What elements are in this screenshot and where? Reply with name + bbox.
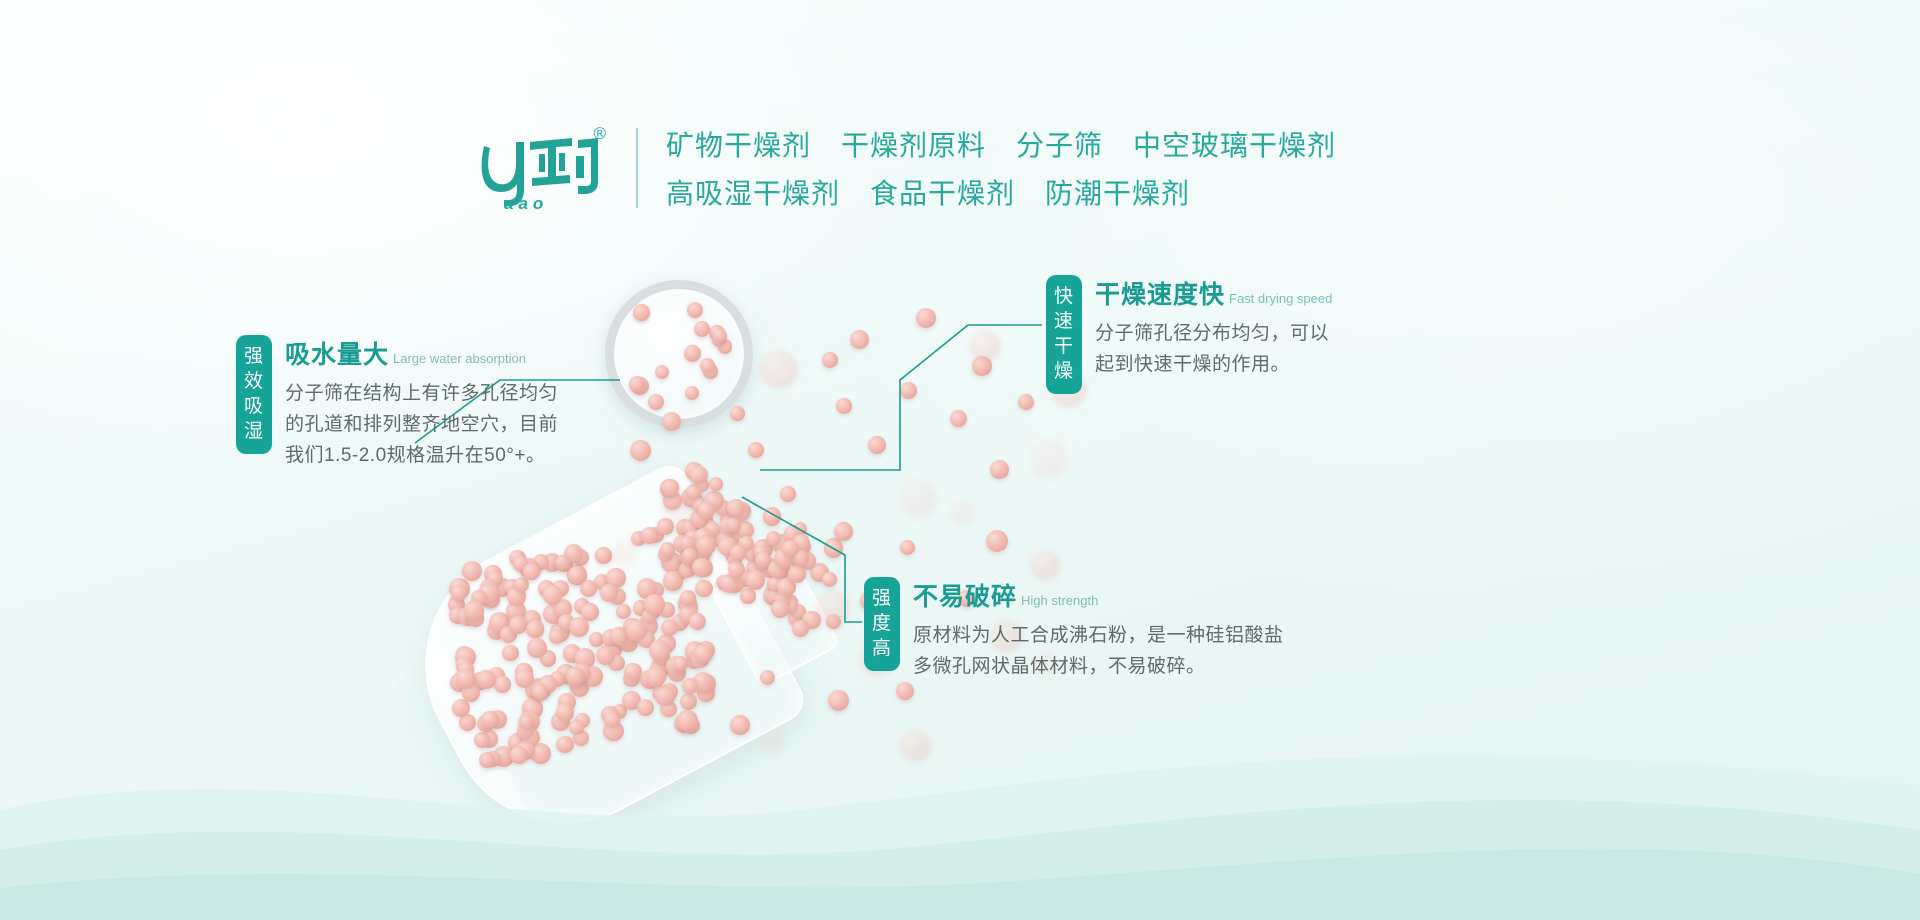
banner-stage: ® aao 矿物干燥剂干燥剂原料分子筛中空玻璃干燥剂高吸湿干燥剂食品干燥剂防潮干…	[0, 0, 1920, 920]
bead	[816, 590, 850, 624]
callout-text-strength: 原材料为人工合成沸石粉，是一种硅铝酸盐多微孔网状晶体材料，不易破碎。	[913, 620, 1284, 682]
bead	[685, 386, 699, 400]
bead	[713, 329, 728, 344]
text-line: 原材料为人工合成沸石粉，是一种硅铝酸盐	[913, 620, 1284, 651]
bead	[900, 480, 937, 517]
bead	[527, 638, 547, 658]
registered-trademark-icon: ®	[593, 124, 606, 144]
callout-text-speed: 分子筛孔径分布均匀，可以起到快速干燥的作用。	[1095, 318, 1332, 380]
nav-item-食品干燥剂[interactable]: 食品干燥剂	[870, 172, 1015, 212]
bead	[788, 565, 806, 583]
bead	[694, 644, 713, 663]
bead	[950, 500, 973, 523]
bead	[684, 345, 701, 362]
bead	[600, 584, 618, 602]
bead	[700, 358, 715, 373]
bead	[526, 621, 544, 639]
bead	[970, 330, 1001, 361]
bead	[900, 382, 917, 399]
bead	[644, 594, 665, 615]
bead	[624, 663, 641, 680]
bead	[509, 616, 527, 634]
bead	[730, 406, 745, 421]
bead	[633, 304, 650, 321]
text-line: 分子筛在结构上有许多孔径均匀	[285, 378, 558, 409]
callout-speed: 快速干燥 干燥速度快 Fast drying speed 分子筛孔径分布均匀，可…	[1046, 275, 1332, 394]
bead	[730, 545, 746, 561]
bead	[515, 669, 535, 689]
bead	[568, 566, 586, 584]
bead	[950, 410, 967, 427]
bead	[748, 442, 764, 458]
text-line: 的孔道和排列整齐地空穴，目前	[285, 409, 558, 440]
callout-title-cn-strength: 不易破碎	[913, 577, 1017, 613]
nav-item-干燥剂原料[interactable]: 干燥剂原料	[841, 124, 986, 164]
bead	[834, 522, 853, 541]
callout-strength: 强度高 不易破碎 High strength 原材料为人工合成沸石粉，是一种硅铝…	[864, 577, 1284, 682]
bead	[1030, 550, 1060, 580]
header-divider	[636, 128, 638, 208]
bead	[502, 645, 518, 661]
bead	[555, 555, 570, 570]
bead	[782, 540, 799, 557]
bead	[760, 350, 798, 388]
bead	[868, 436, 886, 454]
nav-item-矿物干燥剂[interactable]: 矿物干燥剂	[666, 124, 811, 164]
bead	[1018, 394, 1034, 410]
nav-item-分子筛[interactable]: 分子筛	[1016, 124, 1103, 164]
bead	[763, 507, 781, 525]
site-header: ® aao 矿物干燥剂干燥剂原料分子筛中空玻璃干燥剂高吸湿干燥剂食品干燥剂防潮干…	[480, 120, 1336, 216]
bead	[740, 588, 756, 604]
bead	[695, 580, 712, 597]
bead	[746, 570, 765, 589]
bead	[596, 646, 615, 665]
bead	[694, 321, 710, 337]
bead	[692, 558, 711, 577]
bead	[836, 398, 852, 414]
bead	[477, 670, 495, 688]
bead	[986, 530, 1008, 552]
callout-title-en-speed: Fast drying speed	[1229, 291, 1332, 306]
bead	[990, 460, 1009, 479]
brand-logo[interactable]: ® aao	[480, 120, 600, 216]
callout-title-cn-absorption: 吸水量大	[285, 335, 389, 371]
text-line: 起到快速干燥的作用。	[1095, 349, 1332, 380]
text-line: 多微孔网状晶体材料，不易破碎。	[913, 651, 1284, 682]
bead	[1030, 440, 1067, 477]
callout-title-cn-speed: 干燥速度快	[1095, 275, 1225, 311]
bead	[709, 477, 723, 491]
nav-row: 高吸湿干燥剂食品干燥剂防潮干燥剂	[666, 172, 1336, 212]
bead	[792, 620, 809, 637]
product-keyword-nav: 矿物干燥剂干燥剂原料分子筛中空玻璃干燥剂高吸湿干燥剂食品干燥剂防潮干燥剂	[666, 124, 1336, 212]
bead	[780, 486, 796, 502]
callout-absorption: 强效吸湿 吸水量大 Large water absorption 分子筛在结构上…	[236, 335, 558, 471]
bead	[464, 600, 485, 621]
bead	[649, 640, 670, 661]
nav-item-中空玻璃干燥剂[interactable]: 中空玻璃干燥剂	[1133, 124, 1336, 164]
bead	[822, 572, 837, 587]
callout-badge-speed: 快速干燥	[1046, 275, 1082, 394]
bead	[698, 502, 715, 519]
bead	[916, 308, 936, 328]
bead	[630, 440, 651, 461]
callout-badge-strength: 强度高	[864, 577, 900, 671]
bead	[900, 540, 915, 555]
bead	[696, 536, 715, 555]
text-line: 我们1.5-2.0规格温升在50°+。	[285, 440, 558, 471]
bead	[543, 585, 562, 604]
bead	[662, 412, 681, 431]
bead	[726, 517, 741, 532]
bead	[824, 538, 844, 558]
nav-row: 矿物干燥剂干燥剂原料分子筛中空玻璃干燥剂	[666, 124, 1336, 164]
text-line: 分子筛孔径分布均匀，可以	[1095, 318, 1332, 349]
bottle-lid-icon	[605, 280, 753, 428]
nav-item-防潮干燥剂[interactable]: 防潮干燥剂	[1045, 172, 1190, 212]
callout-title-en-strength: High strength	[1021, 593, 1098, 608]
bead	[850, 330, 869, 349]
bead	[680, 590, 696, 606]
callout-text-absorption: 分子筛在结构上有许多孔径均匀的孔道和排列整齐地空穴，目前我们1.5-2.0规格温…	[285, 378, 558, 471]
callout-title-en-absorption: Large water absorption	[393, 351, 526, 366]
bead	[566, 667, 584, 685]
callout-badge-absorption: 强效吸湿	[236, 335, 272, 454]
bead	[641, 527, 658, 544]
bead	[822, 352, 838, 368]
logo-subtext: aao	[504, 194, 548, 214]
bead	[690, 466, 708, 484]
nav-item-高吸湿干燥剂[interactable]: 高吸湿干燥剂	[666, 172, 840, 212]
bead	[462, 561, 482, 581]
wave-decoration	[0, 690, 1920, 920]
